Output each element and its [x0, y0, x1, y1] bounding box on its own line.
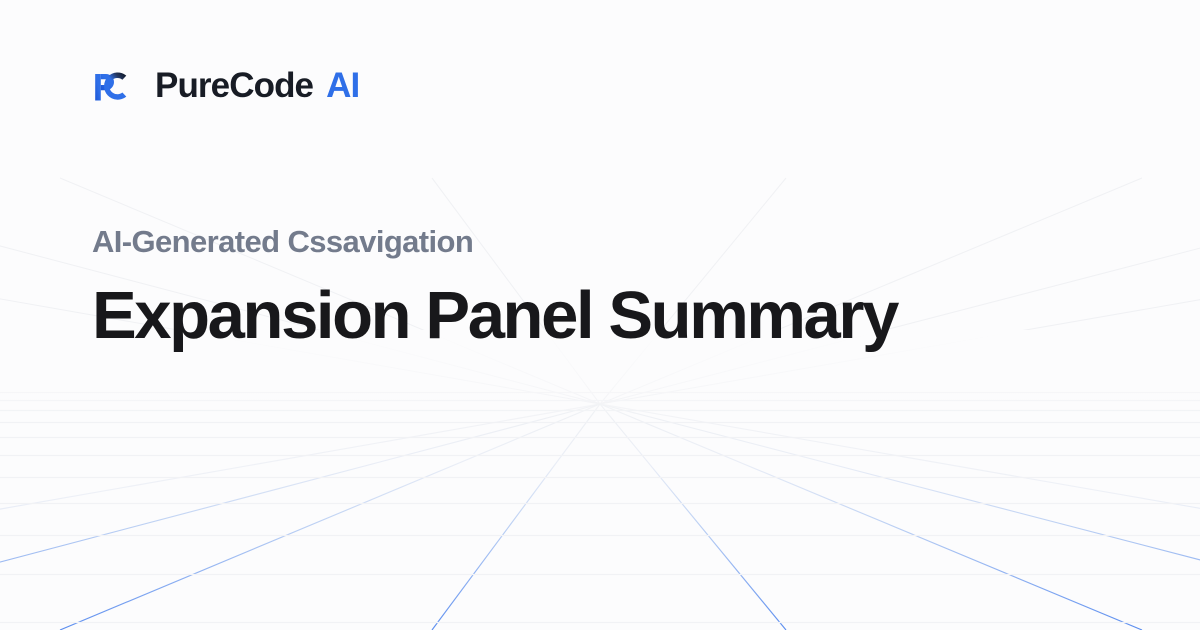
brand-lockup: PureCode AI [92, 62, 359, 108]
poster-content: PureCode AI AI-Generated Cssavigation Ex… [0, 0, 1200, 630]
poster-canvas: PureCode AI AI-Generated Cssavigation Ex… [0, 0, 1200, 630]
eyebrow-label: AI-Generated Cssavigation [92, 225, 1132, 260]
brand-suffix: AI [326, 68, 359, 103]
page-title: Expansion Panel Summary [92, 280, 1132, 351]
purecode-pc-monogram-icon [92, 62, 138, 108]
headline-block: AI-Generated Cssavigation Expansion Pane… [92, 225, 1132, 351]
brand-name: PureCode [155, 68, 313, 103]
brand-wordmark: PureCode AI [155, 68, 359, 103]
